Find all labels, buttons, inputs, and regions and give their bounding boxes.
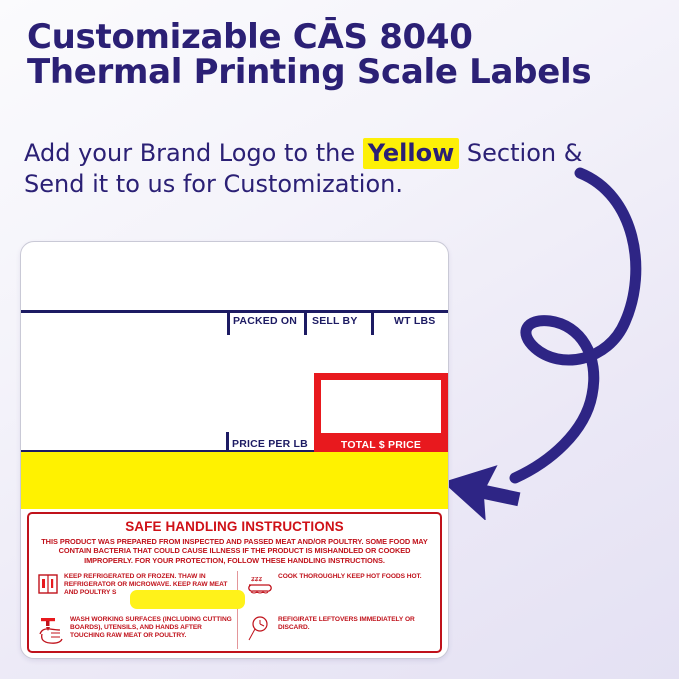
header-divider-2: [304, 310, 307, 335]
label-top-divider: [21, 310, 448, 313]
yellow-highlight-word: Yellow: [363, 138, 460, 169]
page-title: Customizable CĀS 8040 Thermal Printing S…: [27, 20, 637, 90]
header-wt-lbs: WT LBS: [394, 315, 435, 327]
promo-graphic: Customizable CĀS 8040 Thermal Printing S…: [0, 0, 679, 679]
refrigerator-icon: [37, 573, 59, 595]
header-packed-on: PACKED ON: [233, 315, 297, 327]
page-subtitle: Add your Brand Logo to the Yellow Sectio…: [24, 138, 624, 200]
safe-handling-title: SAFE HANDLING INSTRUCTIONS: [29, 519, 440, 534]
svg-text:ʑʑʑ: ʑʑʑ: [251, 575, 262, 583]
instruction-text-wash: WASH WORKING SURFACES (INCLUDING CUTTING…: [70, 616, 232, 646]
instruction-text-cook: COOK THOROUGHLY KEEP HOT FOODS HOT.: [278, 573, 422, 595]
total-price-label: TOTAL $ PRICE: [314, 439, 448, 451]
instruction-item-leftovers: REFIGIRATE LEFTOVERS IMMEDIATELY OR DISC…: [247, 616, 432, 642]
price-per-lb-label: PRICE PER LB: [232, 438, 308, 450]
thermometer-icon: [247, 616, 273, 642]
yellow-redaction-patch: [130, 590, 245, 609]
icon-grid-divider: [237, 571, 238, 649]
header-sell-by: SELL BY: [312, 315, 358, 327]
safe-handling-body: THIS PRODUCT WAS PREPARED FROM INSPECTED…: [37, 537, 432, 565]
yellow-branding-area[interactable]: [21, 452, 448, 509]
subtitle-text-before: Add your Brand Logo to the: [24, 139, 363, 167]
header-divider-1: [227, 310, 230, 335]
faucet-hand-wash-icon: [37, 616, 65, 646]
instruction-text-leftovers: REFIGIRATE LEFTOVERS IMMEDIATELY OR DISC…: [278, 616, 432, 642]
instruction-item-wash: WASH WORKING SURFACES (INCLUDING CUTTING…: [37, 616, 232, 646]
safe-handling-box: SAFE HANDLING INSTRUCTIONS THIS PRODUCT …: [27, 512, 442, 653]
total-price-block: TOTAL $ PRICE: [314, 373, 448, 452]
scale-label-card: PACKED ON SELL BY WT LBS PRICE PER LB TO…: [20, 241, 449, 659]
total-price-value-area: [321, 380, 441, 433]
header-divider-3: [371, 310, 374, 335]
cooking-pan-icon: ʑʑʑ: [247, 573, 273, 595]
instruction-item-cook: ʑʑʑ COOK THOROUGHLY KEEP HOT FOODS HOT.: [247, 573, 432, 595]
